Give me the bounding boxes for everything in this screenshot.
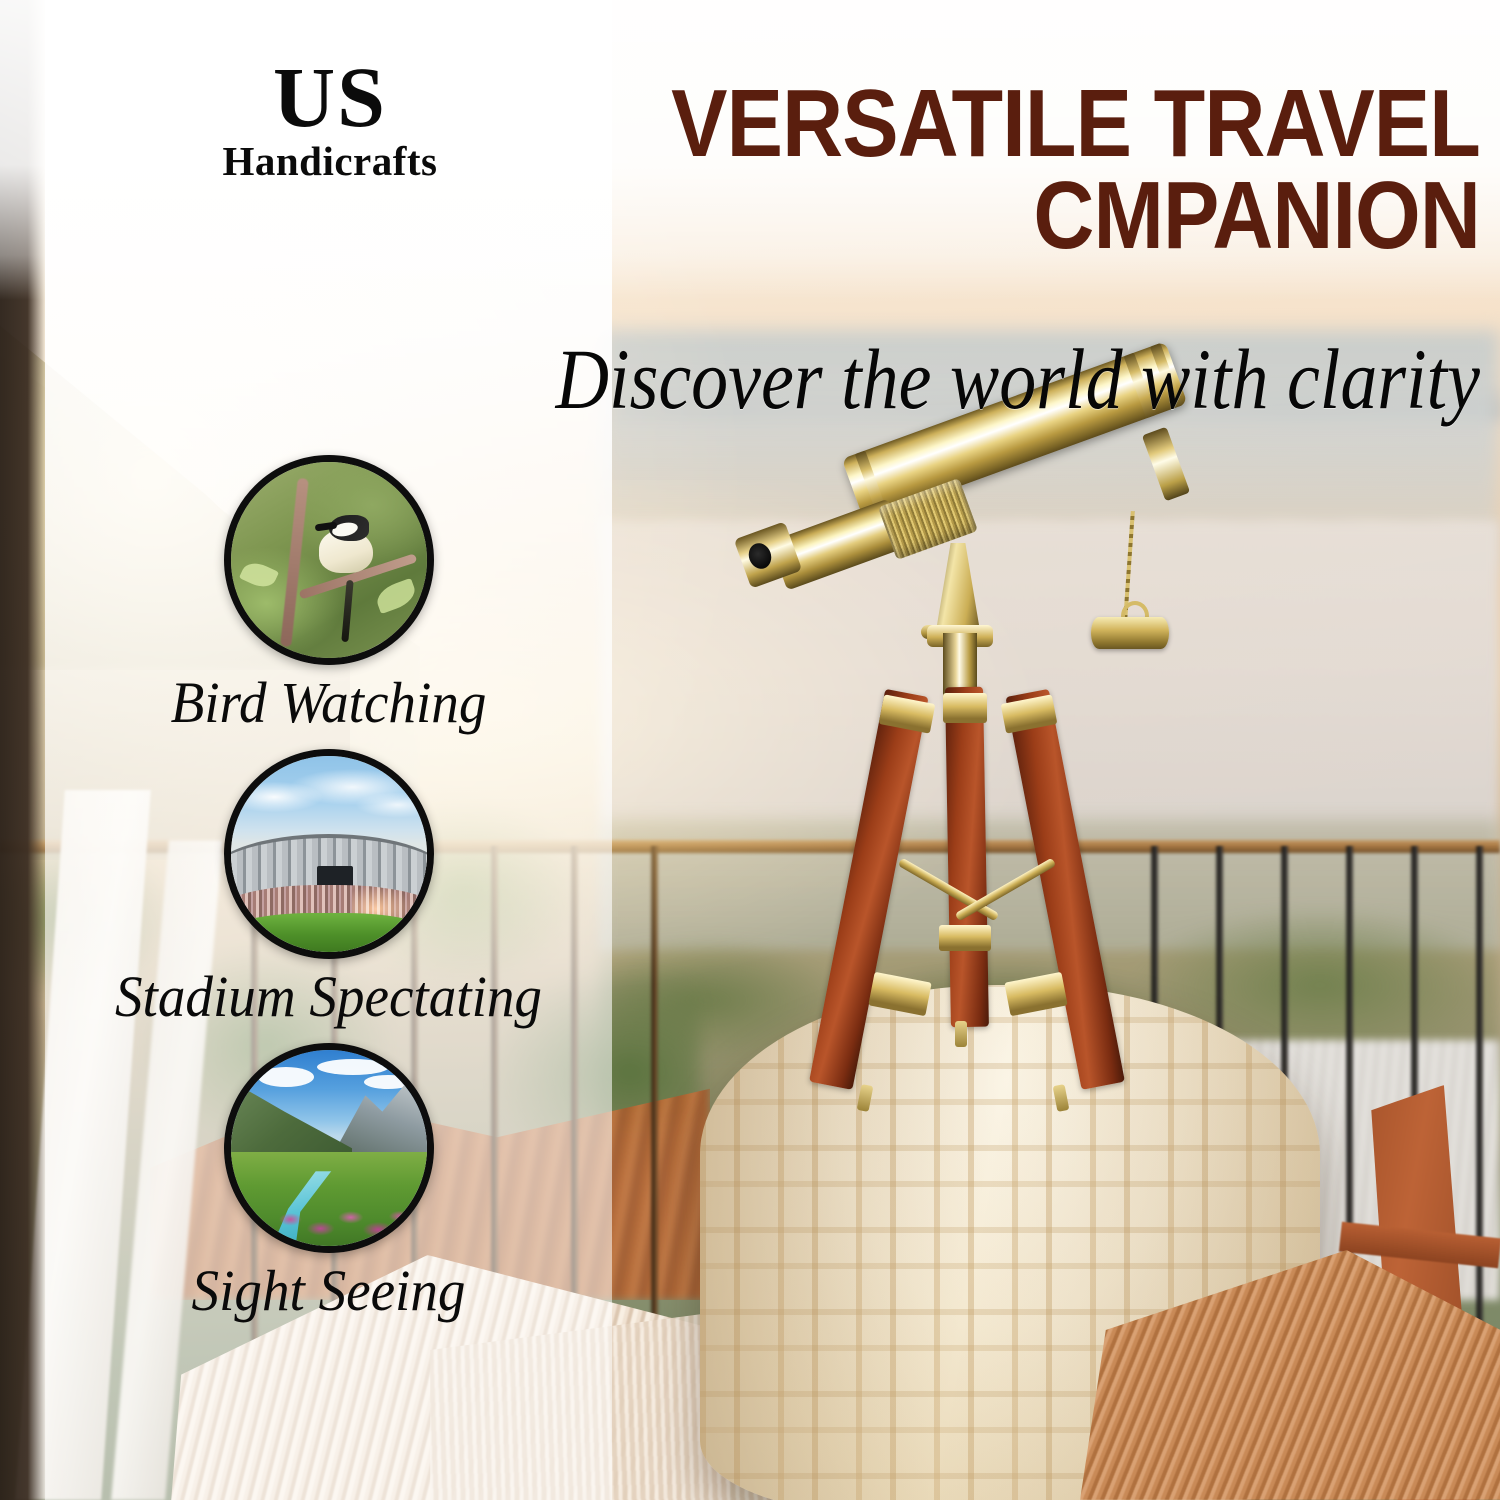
feature-list: Bird Watching Stadium Spectating — [45, 455, 612, 1336]
tripod-brass-band-center-top — [943, 693, 987, 723]
brand-logo: US Handicrafts — [170, 58, 490, 182]
feature-item-sight-seeing: Sight Seeing — [45, 1043, 612, 1323]
feature-label-stadium-spectating: Stadium Spectating — [59, 965, 598, 1029]
tripod-leg-right — [1005, 689, 1125, 1090]
feature-label-sight-seeing: Sight Seeing — [59, 1259, 598, 1323]
feature-item-bird-watching: Bird Watching — [45, 455, 612, 735]
brand-logo-main: US — [170, 58, 490, 137]
subtitle: Discover the world with clarity — [310, 336, 1480, 422]
headline: VERSATILE TRAVEL CMPANION — [653, 78, 1480, 262]
tripod-brass-band-right-lower — [1004, 972, 1067, 1016]
tripod-leg-left — [809, 689, 929, 1090]
stadium-scene-icon — [231, 756, 427, 952]
bird-watching-thumbnail — [224, 455, 434, 665]
tripod-foot-center — [955, 1021, 967, 1047]
feature-label-bird-watching: Bird Watching — [59, 671, 598, 735]
tripod-brass-band-center-lower — [939, 925, 991, 951]
tripod-brass-band-left-lower — [868, 972, 931, 1016]
feature-item-stadium-spectating: Stadium Spectating — [45, 749, 612, 1029]
stadium-spectating-thumbnail — [224, 749, 434, 959]
headline-line-1: VERSATILE TRAVEL — [671, 70, 1480, 177]
telescope-objective-lens — [1142, 427, 1190, 502]
tripod-leg-center — [945, 687, 989, 1028]
headline-line-2: CMPANION — [653, 170, 1480, 262]
sight-seeing-thumbnail — [224, 1043, 434, 1253]
lens-cap — [1091, 617, 1169, 649]
valley-scene-icon — [231, 1050, 427, 1246]
marketing-banner: US Handicrafts VERSATILE TRAVEL CMPANION… — [0, 0, 1500, 1500]
tripod-foot-right — [1053, 1084, 1070, 1112]
telescope-mount-yoke — [935, 543, 981, 637]
product-telescope — [735, 425, 1245, 1145]
brand-logo-sub: Handicrafts — [170, 141, 490, 182]
bird-scene-icon — [231, 462, 427, 658]
tripod-foot-left — [857, 1084, 874, 1112]
